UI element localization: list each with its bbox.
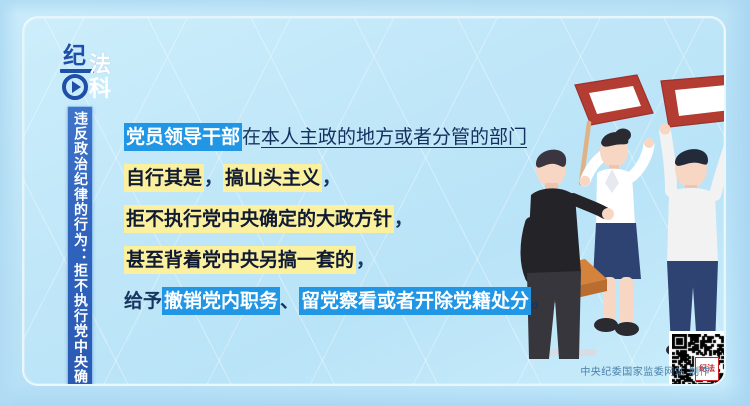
edge-gradient-bottom (0, 384, 750, 406)
text-segment: 本人主政的地方或者分管的部门 (261, 124, 527, 150)
text-segment: 甚至背着党中央另搞一套的 (124, 246, 356, 274)
text-segment: 留党察看或者开除党籍处分 (299, 287, 531, 315)
poster-canvas: 纪 法 科 违反政治纪律的行为：拒不执行党中央确定的大政方针 党员领导干部在本人… (0, 0, 750, 406)
text-segment: ， (204, 165, 223, 191)
logo-char-ji: 纪 (63, 45, 86, 68)
text-line: 拒不执行党中央确定的大政方针， (124, 198, 554, 239)
text-line: 给予撤销党内职务、留党察看或者开除党籍处分。 (124, 280, 554, 321)
vertical-title-ribbon: 违反政治纪律的行为：拒不执行党中央确定的大政方针 (67, 106, 93, 386)
text-segment: 。 (531, 288, 550, 314)
credit-text: 中央纪委国家监委网站 制作 (580, 363, 710, 378)
ribbon-text: 违反政治纪律的行为：拒不执行党中央确定的大政方针 (68, 107, 92, 386)
content-panel: 纪 法 科 违反政治纪律的行为：拒不执行党中央确定的大政方针 党员领导干部在本人… (22, 16, 726, 386)
text-segment: ， (356, 247, 375, 273)
text-segment: 在 (242, 124, 261, 150)
regulation-text-block: 党员领导干部在本人主政的地方或者分管的部门自行其是，搞山头主义，拒不执行党中央确… (124, 116, 554, 321)
text-line: 甚至背着党中央另搞一套的， (124, 239, 554, 280)
logo-char-ke: 科 (89, 79, 111, 101)
text-line: 党员领导干部在本人主政的地方或者分管的部门 (124, 116, 554, 157)
text-line: 自行其是，搞山头主义， (124, 157, 554, 198)
text-segment: 撤销党内职务 (162, 287, 280, 315)
woman-raising-sign (580, 129, 654, 337)
sign-right (661, 75, 726, 127)
text-segment: 拒不执行党中央确定的大政方针 (124, 205, 394, 233)
edge-gradient-top (0, 0, 750, 14)
text-segment: 自行其是 (124, 164, 204, 192)
edge-gradient-left (0, 0, 18, 406)
text-segment: 党员领导干部 (124, 123, 242, 151)
play-triangle-icon (72, 81, 81, 93)
text-segment: 搞山头主义 (223, 164, 322, 192)
text-segment: 给予 (124, 288, 162, 314)
text-segment: ， (394, 206, 413, 232)
edge-gradient-right (724, 0, 750, 406)
man-raising-sign (660, 124, 727, 358)
brand-logo: 纪 法 科 (58, 45, 120, 107)
logo-char-fa: 法 (89, 55, 111, 77)
text-segment: 、 (280, 288, 299, 314)
text-segment: ， (322, 165, 341, 191)
